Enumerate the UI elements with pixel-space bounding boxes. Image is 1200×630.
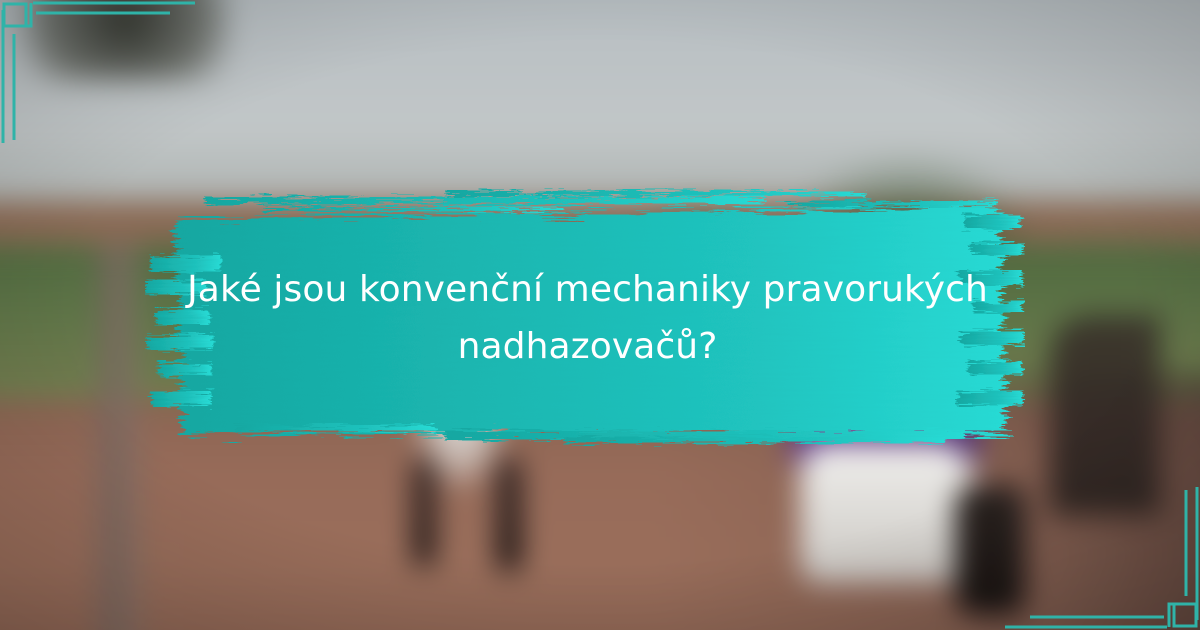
page-title: Jaké jsou konvenční mechaniky pravorukýc… <box>175 262 1000 376</box>
share-card: Jaké jsou konvenční mechaniky pravorukýc… <box>0 0 1200 630</box>
